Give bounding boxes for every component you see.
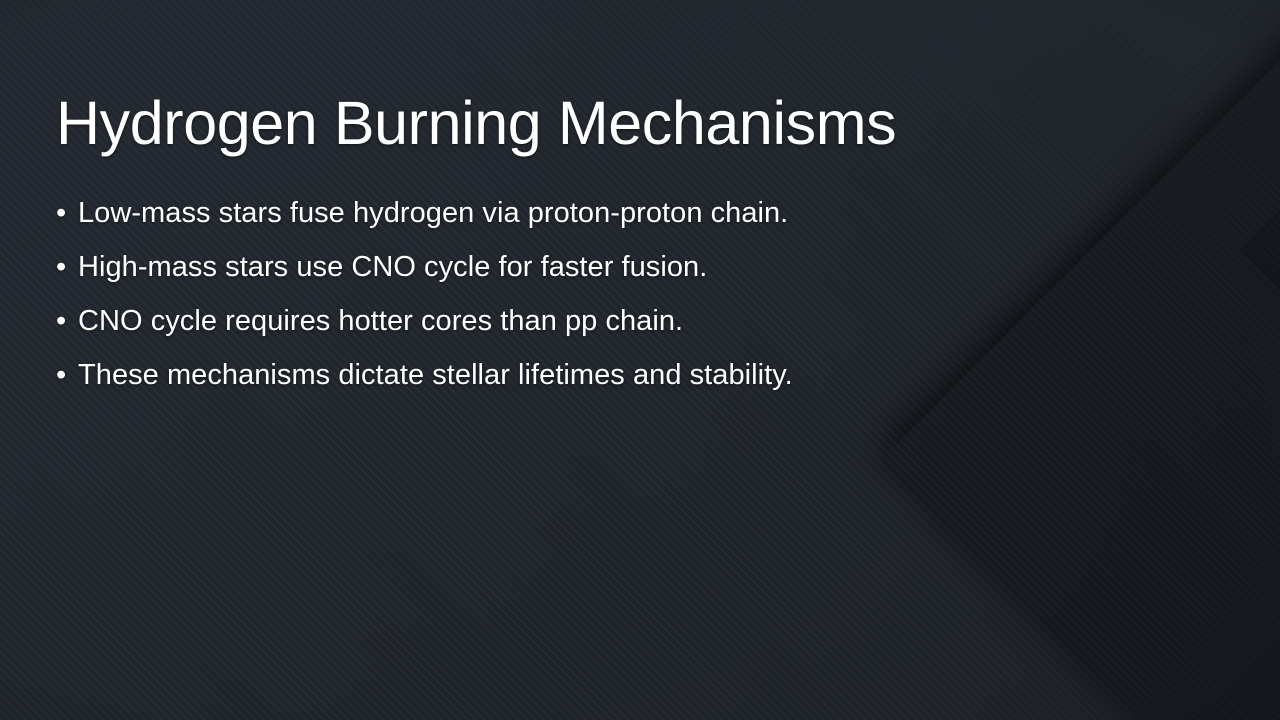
slide-content: Hydrogen Burning Mechanisms • Low-mass s…	[0, 0, 1280, 720]
bullet-item-4: • These mechanisms dictate stellar lifet…	[56, 348, 1186, 402]
bullet-item-1: • Low-mass stars fuse hydrogen via proto…	[56, 186, 1186, 240]
bullet-item-3: • CNO cycle requires hotter cores than p…	[56, 294, 1186, 348]
bullet-dot-icon: •	[56, 240, 78, 294]
bullet-text-3: CNO cycle requires hotter cores than pp …	[78, 294, 683, 348]
presentation-slide: Hydrogen Burning Mechanisms • Low-mass s…	[0, 0, 1280, 720]
slide-title: Hydrogen Burning Mechanisms	[56, 91, 1156, 157]
bullet-dot-icon: •	[56, 348, 78, 402]
bullet-dot-icon: •	[56, 294, 78, 348]
bullet-dot-icon: •	[56, 186, 78, 240]
bullet-text-2: High-mass stars use CNO cycle for faster…	[78, 240, 707, 294]
bullet-list: • Low-mass stars fuse hydrogen via proto…	[56, 186, 1186, 402]
bullet-text-4: These mechanisms dictate stellar lifetim…	[78, 348, 793, 402]
bullet-text-1: Low-mass stars fuse hydrogen via proton-…	[78, 186, 788, 240]
bullet-item-2: • High-mass stars use CNO cycle for fast…	[56, 240, 1186, 294]
